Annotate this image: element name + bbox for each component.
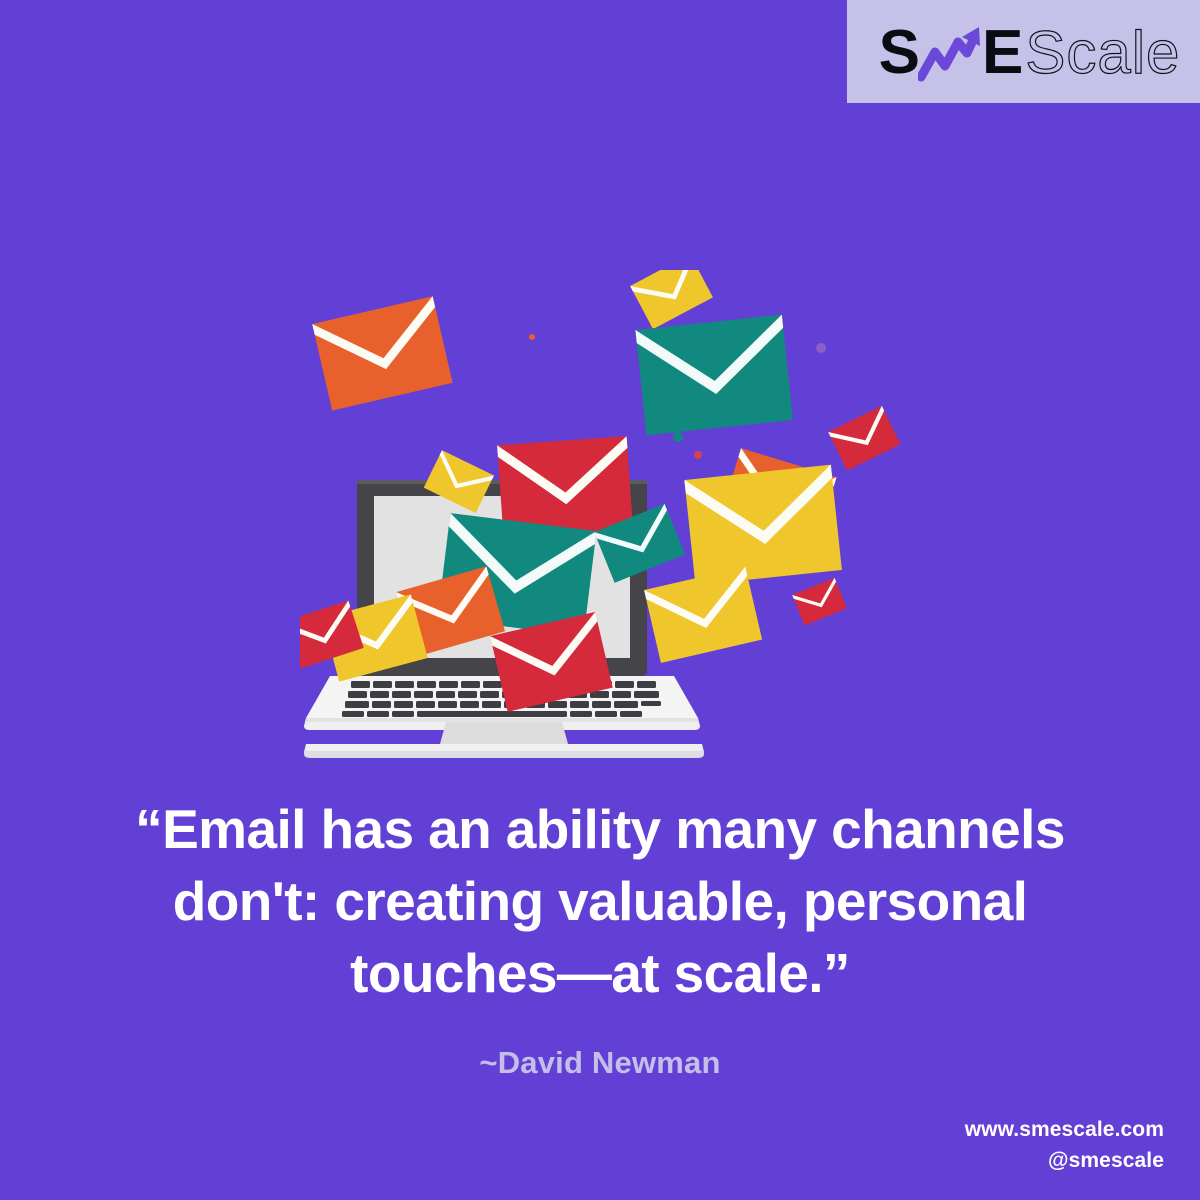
quote-block: “Email has an ability many channels don'…	[90, 793, 1110, 1081]
footer-website[interactable]: www.smescale.com	[965, 1115, 1164, 1145]
growth-arrow-icon	[918, 22, 984, 84]
quote-author: ~David Newman	[90, 1045, 1110, 1081]
logo-letter-s: S	[879, 22, 919, 84]
footer-handle[interactable]: @smescale	[965, 1146, 1164, 1176]
logo-letter-e: E	[982, 22, 1022, 84]
envelope-yellow-large-right	[684, 465, 841, 586]
poster-canvas: S E Scale	[0, 0, 1200, 1200]
footer-contact: www.smescale.com @smescale	[965, 1115, 1164, 1176]
logo-wordmark-scale: Scale	[1025, 23, 1180, 83]
envelope-orange-large	[312, 296, 452, 411]
quote-text: “Email has an ability many channels don'…	[90, 793, 1110, 1009]
envelope-teal-large	[635, 315, 792, 436]
brand-logo-badge[interactable]: S E Scale	[847, 0, 1200, 103]
laptop-trackpad	[440, 722, 568, 744]
envelope-red-tiny-right	[792, 578, 847, 626]
envelope-red-small-right	[828, 406, 900, 471]
envelope-yellow-small-top	[630, 270, 713, 329]
laptop-sending-emails-illustration	[300, 270, 900, 760]
envelope-yellow-lower-right	[644, 567, 762, 663]
brand-logo: S E Scale	[879, 22, 1181, 84]
